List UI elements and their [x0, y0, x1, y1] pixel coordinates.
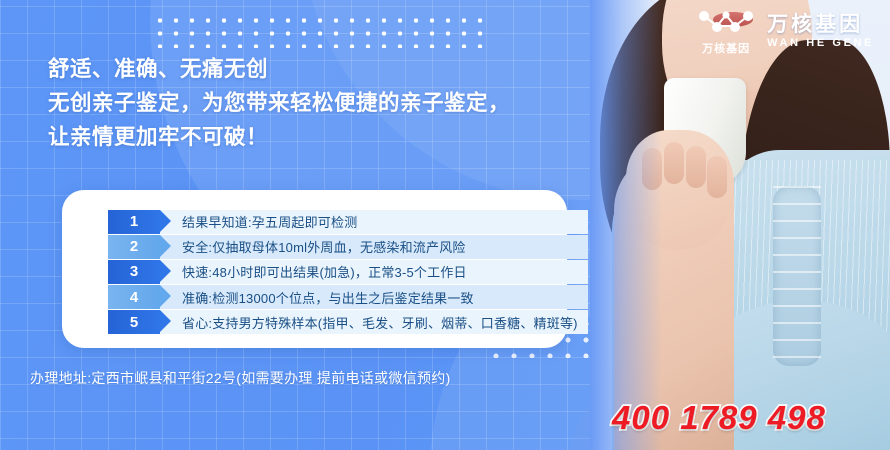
feature-row: 3 快速:48小时即可出结果(加急)，正常3-5个工作日 [108, 260, 588, 284]
feature-row: 1 结果早知道:孕五周起即可检测 [108, 210, 588, 234]
feature-number-badge: 4 [108, 285, 160, 309]
headline-line-3: 让亲情更加牢不可破！ [48, 120, 648, 154]
feature-number-badge: 1 [108, 210, 160, 234]
feature-text: 省心:支持男方特殊样本(指甲、毛发、牙刷、烟蒂、口香糖、精斑等) [160, 310, 588, 334]
hotline-phone-number[interactable]: 400 1789 498 [612, 399, 826, 437]
logo-name-cn: 万核基因 [767, 13, 863, 37]
headline-block: 舒适、准确、无痛无创 无创亲子鉴定，为您带来轻松便捷的亲子鉴定， 让亲情更加牢不… [48, 52, 648, 154]
promo-banner: 万核基因 万核基因 WAN HE GENE 舒适、准确、无痛无创 无创亲子鉴定，… [0, 0, 890, 450]
feature-number-badge: 3 [108, 260, 160, 284]
logo-mark-label: 万核基因 [702, 44, 750, 55]
headline-line-1: 舒适、准确、无痛无创 [48, 52, 648, 86]
molecule-dna-icon [695, 8, 757, 42]
dot-grid-top [152, 14, 492, 48]
feature-number-badge: 5 [108, 310, 160, 334]
feature-text: 结果早知道:孕五周起即可检测 [160, 210, 588, 234]
office-address: 办理地址:定西市岷县和平街22号(如需要办理 提前电话或微信预约) [30, 368, 451, 388]
feature-row: 4 准确:检测13000个位点，与出生之后鉴定结果一致 [108, 285, 588, 309]
feature-text: 准确:检测13000个位点，与出生之后鉴定结果一致 [160, 285, 588, 309]
feature-text: 快速:48小时即可出结果(加急)，正常3-5个工作日 [160, 260, 588, 284]
headline-line-2: 无创亲子鉴定，为您带来轻松便捷的亲子鉴定， [48, 86, 648, 120]
feature-text: 安全:仅抽取母体10ml外周血，无感染和流产风险 [160, 235, 588, 259]
feature-number-badge: 2 [108, 235, 160, 259]
feature-list: 1 结果早知道:孕五周起即可检测 2 安全:仅抽取母体10ml外周血，无感染和流… [108, 210, 588, 335]
logo-wordmark: 万核基因 WAN HE GENE [767, 13, 874, 50]
logo-mark: 万核基因 [695, 8, 757, 55]
feature-row: 2 安全:仅抽取母体10ml外周血，无感染和流产风险 [108, 235, 588, 259]
feature-row: 5 省心:支持男方特殊样本(指甲、毛发、牙刷、烟蒂、口香糖、精斑等) [108, 310, 588, 334]
brand-logo: 万核基因 万核基因 WAN HE GENE [695, 8, 874, 55]
logo-name-en: WAN HE GENE [767, 37, 874, 50]
